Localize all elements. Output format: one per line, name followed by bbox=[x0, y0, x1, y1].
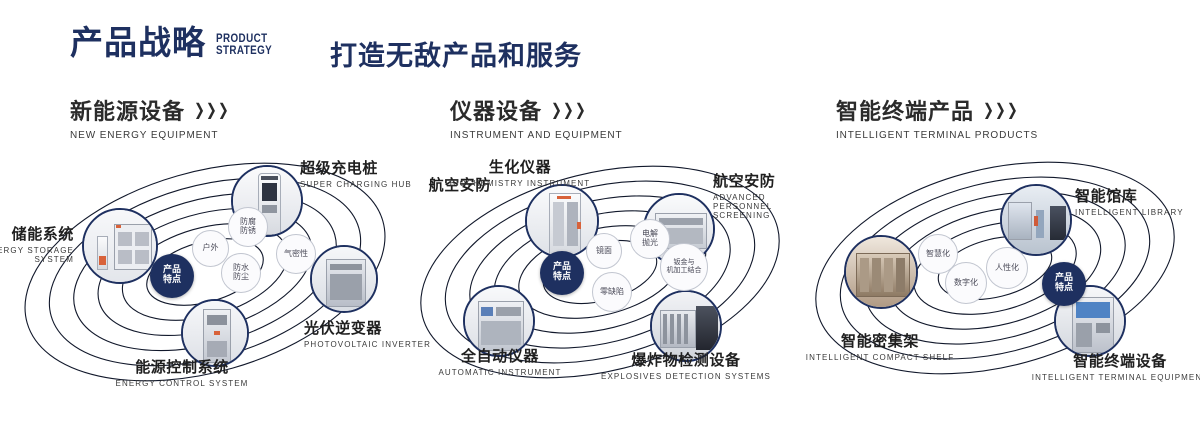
bubble-product-features[interactable]: 产品 特点 bbox=[1042, 262, 1086, 306]
bubble-anticorrosion[interactable]: 防腐 防锈 bbox=[228, 207, 268, 247]
photo-energy-storage-system bbox=[84, 210, 156, 282]
chevron-right-icon: ❯❯❯ bbox=[194, 99, 229, 121]
page-subtitle: 打造无敌产品和服务 bbox=[330, 34, 582, 73]
section-title-en: INTELLIGENT TERMINAL PRODUCTS bbox=[836, 130, 1038, 141]
label-explosives-detection: 爆炸物检测设备 EXPLOSIVES DETECTION SYSTEMS bbox=[586, 349, 786, 381]
bubble-product-features[interactable]: 产品 特点 bbox=[150, 254, 194, 298]
bubble-product-features[interactable]: 产品 特点 bbox=[540, 251, 584, 295]
bubble-digital[interactable]: 数字化 bbox=[945, 262, 987, 304]
chevron-right-icon: ❯❯❯ bbox=[983, 99, 1018, 121]
bubble-zero-defect[interactable]: 零缺陷 bbox=[592, 272, 632, 312]
section-header-intelligent: 智能终端产品 ❯❯❯ INTELLIGENT TERMINAL PRODUCTS bbox=[836, 94, 1038, 141]
label-energy-control-system: 能源控制系统 ENERGY CONTROL SYSTEM bbox=[82, 356, 282, 388]
bubble-humanized[interactable]: 人性化 bbox=[986, 247, 1028, 289]
chevron-right-icon: ❯❯❯ bbox=[551, 99, 586, 121]
node-intelligent-library[interactable] bbox=[1000, 184, 1072, 256]
page-title-en: PRODUCT STRATEGY bbox=[216, 32, 272, 56]
node-photovoltaic-inverter[interactable] bbox=[310, 245, 378, 313]
label-biochemistry-instrument: 生化仪器 BIOCHEMISTRY INSTRUMENT bbox=[440, 156, 600, 188]
bubble-sheetmetal[interactable]: 钣金与 机加工结合 bbox=[660, 243, 708, 291]
page-title-en-line2: STRATEGY bbox=[216, 44, 272, 56]
orbit-group-intelligent: 智能馆库 INTELLIGENT LIBRARY 智能密集架 INTELLIGE… bbox=[790, 150, 1200, 400]
label-intelligent-library: 智能馆库 INTELLIGENT LIBRARY bbox=[1075, 185, 1184, 217]
label-intelligent-terminal-equipment: 智能终端设备 INTELLIGENT TERMINAL EQUIPMENT bbox=[1010, 350, 1200, 382]
section-title-cn: 智能终端产品 bbox=[836, 94, 974, 126]
label-intelligent-compact-shelf: 智能密集架 INTELLIGENT COMPACT SHELF bbox=[785, 330, 975, 362]
page-title-cn: 产品战略 bbox=[70, 26, 206, 59]
photo-intelligent-library bbox=[1002, 186, 1070, 254]
section-header-new-energy: 新能源设备 ❯❯❯ NEW ENERGY EQUIPMENT bbox=[70, 94, 229, 141]
section-title-cn: 新能源设备 bbox=[70, 94, 185, 126]
poster-canvas: 产品战略 PRODUCT STRATEGY 打造无敌产品和服务 新能源设备 ❯❯… bbox=[0, 0, 1200, 422]
photo-intelligent-compact-shelf bbox=[846, 237, 916, 307]
orbit-group-new-energy: 储能系统 ENERGY STORAGE SYSTEM 超级充电桩 SUPER C… bbox=[0, 150, 420, 400]
page-title: 产品战略 PRODUCT STRATEGY bbox=[70, 26, 284, 59]
bubble-airtight[interactable]: 气密性 bbox=[276, 234, 316, 274]
section-header-instrument: 仪器设备 ❯❯❯ INSTRUMENT AND EQUIPMENT bbox=[450, 94, 623, 141]
section-title-cn: 仪器设备 bbox=[450, 94, 542, 126]
node-energy-storage-system[interactable] bbox=[82, 208, 158, 284]
photo-photovoltaic-inverter bbox=[312, 247, 376, 311]
label-automatic-instrument: 全自动仪器 AUTOMATIC INSTRUMENT bbox=[390, 345, 610, 377]
section-title-en: INSTRUMENT AND EQUIPMENT bbox=[450, 130, 623, 141]
node-intelligent-compact-shelf[interactable] bbox=[844, 235, 918, 309]
bubble-mirror[interactable]: 镜面 bbox=[586, 233, 622, 269]
orbit-group-instrument: 航空安防 生化仪器 BIOCHEMISTRY INSTRUMENT bbox=[400, 150, 820, 400]
label-energy-storage-system: 储能系统 ENERGY STORAGE SYSTEM bbox=[0, 223, 74, 264]
bubble-line-2: 特点 bbox=[163, 276, 181, 286]
bubble-waterproof[interactable]: 防水 防尘 bbox=[221, 253, 261, 293]
section-title-en: NEW ENERGY EQUIPMENT bbox=[70, 130, 229, 141]
